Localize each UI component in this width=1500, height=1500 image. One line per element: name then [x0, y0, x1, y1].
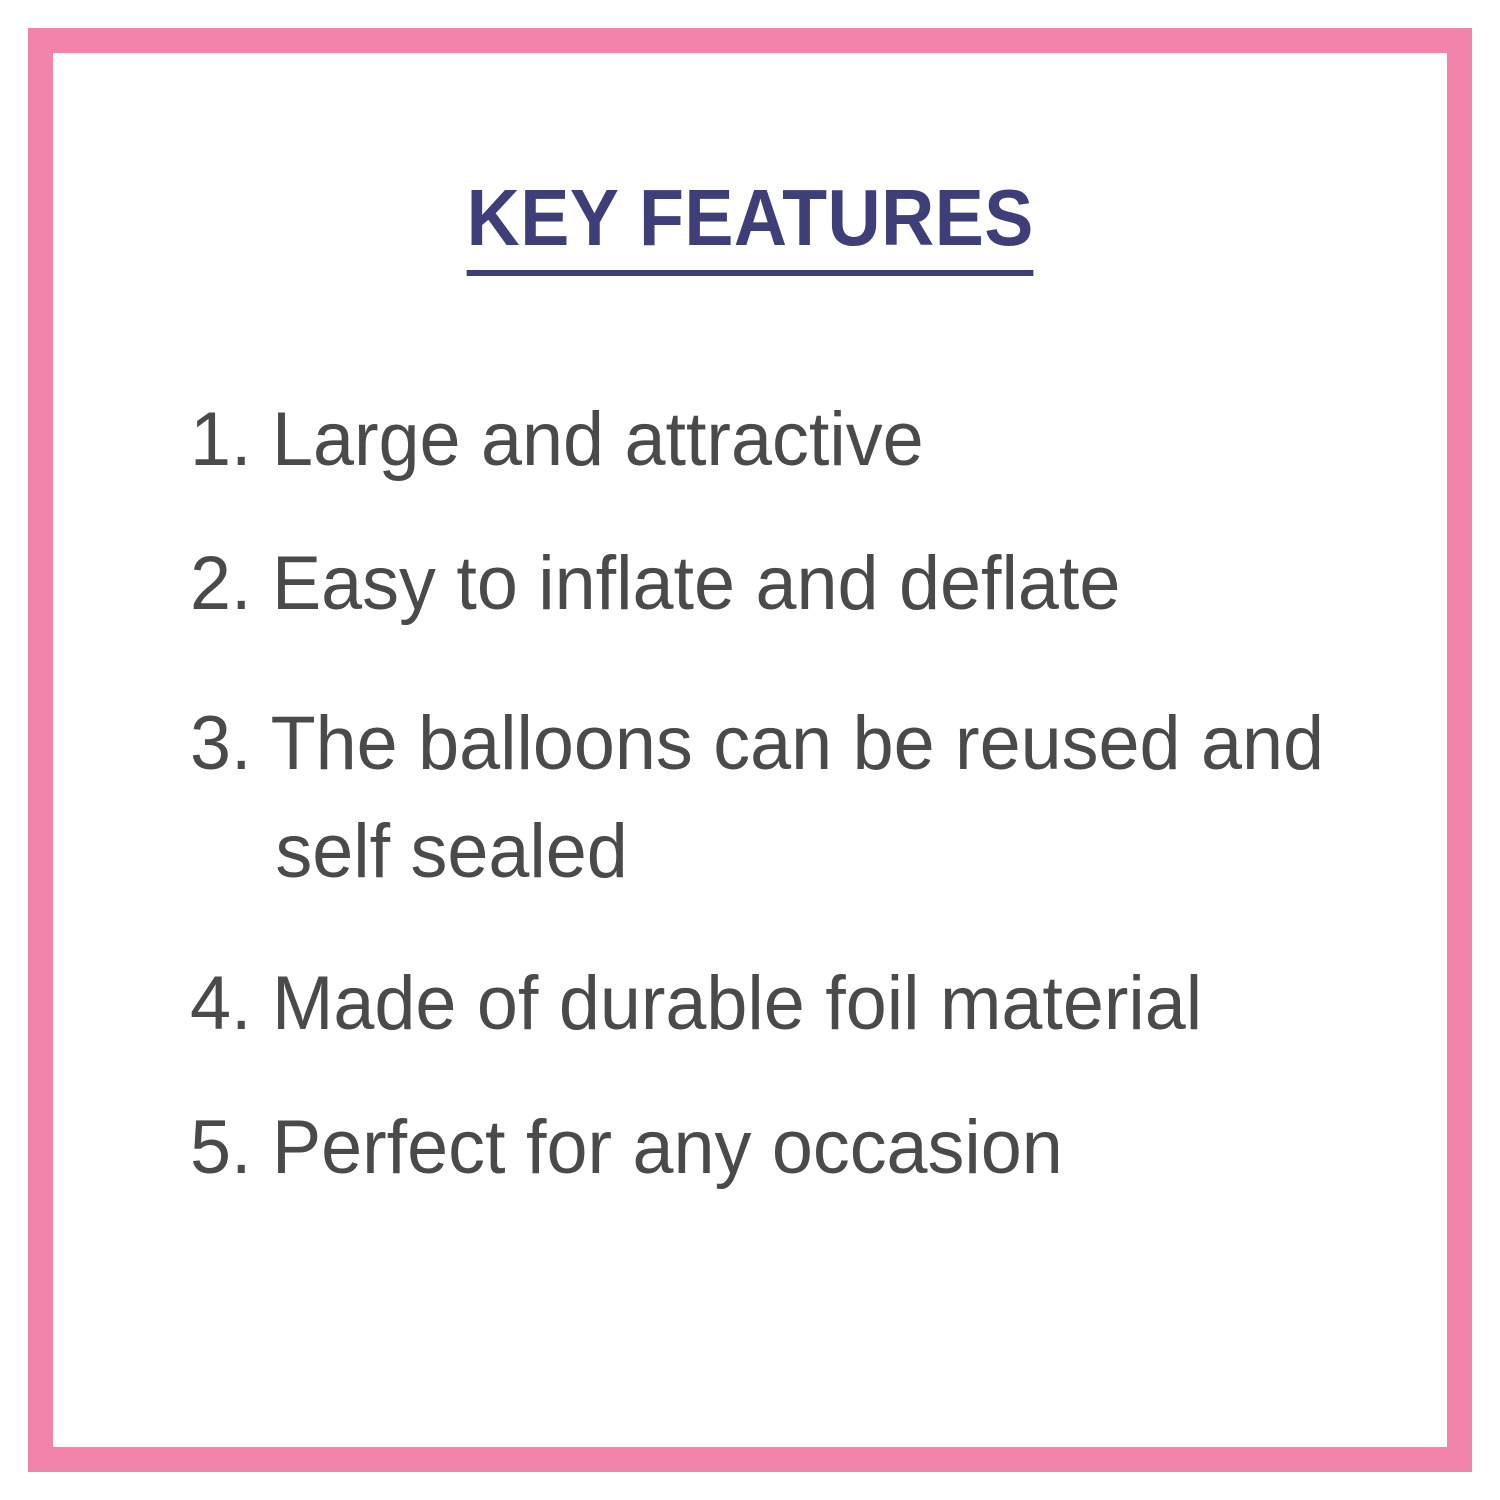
page-title: KEY FEATURES [466, 178, 1033, 276]
page-title-block: KEY FEATURES [0, 178, 1500, 276]
features-list: 1. Large and attractive 2. Easy to infla… [190, 402, 1390, 1186]
list-item: 1. Large and attractive [190, 402, 1354, 478]
key-features-card: KEY FEATURES 1. Large and attractive 2. … [0, 0, 1500, 1500]
list-item: 4. Made of durable foil material [190, 966, 1354, 1042]
list-item: 2. Easy to inflate and deflate [190, 546, 1354, 622]
list-item: 5. Perfect for any occasion [190, 1110, 1354, 1186]
list-item: 3. The balloons can be reused and self s… [190, 690, 1354, 906]
